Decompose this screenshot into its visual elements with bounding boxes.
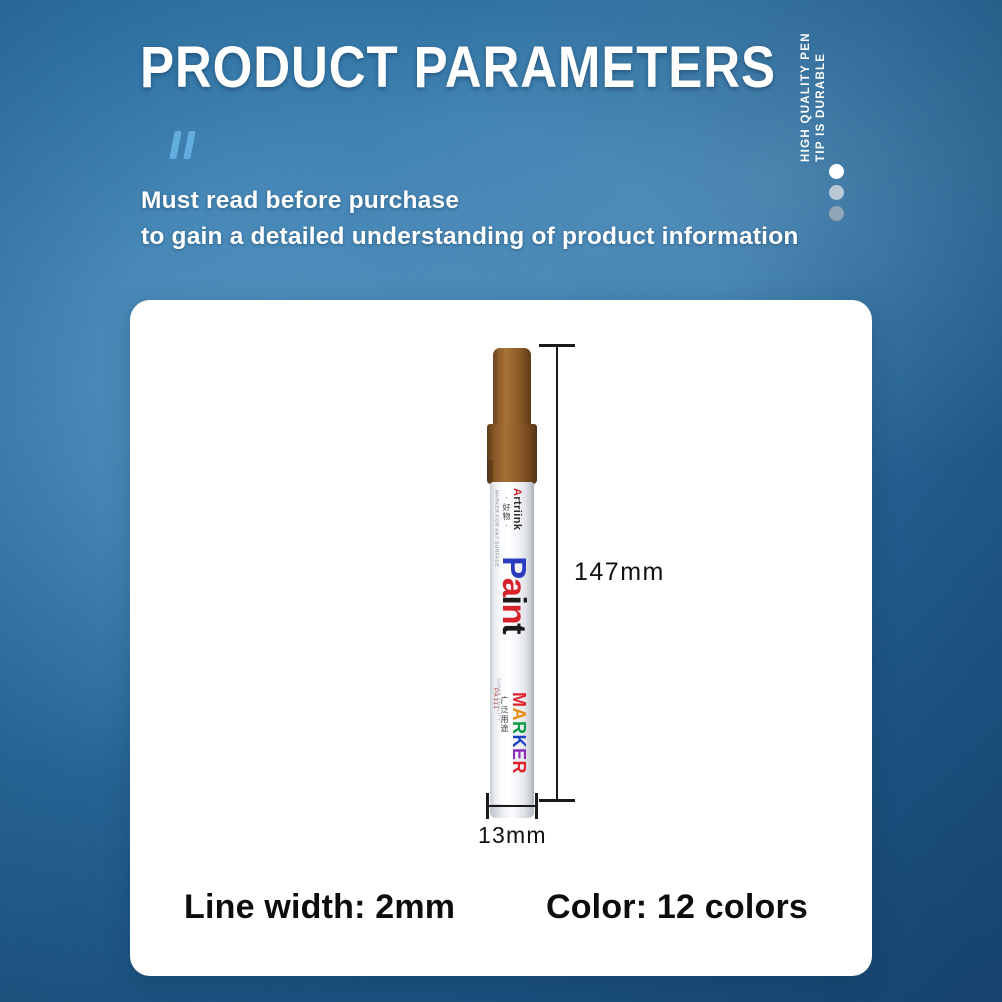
width-dimension-cap-right [535, 793, 538, 819]
height-dimension-label: 147mm [574, 558, 665, 587]
subtitle-line-1: Must read before purchase [141, 183, 799, 219]
width-dimension-label: 13mm [478, 822, 547, 849]
decorative-dots [829, 164, 844, 221]
product-parameters-infographic: PRODUCT PARAMETERS Must read before purc… [0, 0, 1002, 1002]
pen-brand-label: Artriink [511, 488, 522, 530]
side-tagline-line-2: TIP IS DURABLE [815, 22, 827, 162]
quote-mark-icon [170, 131, 202, 161]
pen-paint-logo: Paint [498, 556, 531, 633]
height-dimension-cap-top [539, 344, 575, 347]
spec-row: Line width: 2mm Color: 12 colors [130, 888, 872, 927]
height-dimension-line [556, 344, 558, 802]
product-spec-card: MARKER FOR ANY SURFACE Artriink · 好物 · P… [130, 300, 872, 976]
pen-marker-logo: MARKER [510, 692, 528, 774]
spec-line-width: Line width: 2mm [184, 888, 455, 927]
pen-barrel: MARKER FOR ANY SURFACE Artriink · 好物 · P… [490, 482, 534, 818]
subtitle-line-2: to gain a detailed understanding of prod… [141, 219, 799, 255]
height-dimension-cap-bottom [539, 799, 575, 802]
page-title: PRODUCT PARAMETERS [140, 34, 776, 101]
width-dimension-line [486, 805, 538, 807]
pen-brand-cn-label: · 好物 · [502, 496, 510, 528]
subtitle: Must read before purchase to gain a deta… [141, 183, 799, 255]
dot-1 [829, 164, 844, 179]
pen-fineprint-right: SUPER QUALITY [496, 678, 501, 721]
side-tagline: HIGH QUALITY PEN TIP IS DURABLE [800, 22, 827, 162]
quote-bar-left [169, 131, 181, 159]
spec-color: Color: 12 colors [546, 888, 808, 927]
side-tagline-line-1: HIGH QUALITY PEN [800, 22, 812, 162]
dot-2 [829, 185, 844, 200]
pen-cap-bottom [487, 424, 537, 484]
pen-cap-top [493, 348, 531, 426]
quote-bar-right [183, 131, 195, 159]
width-dimension-cap-left [486, 793, 489, 819]
dot-3 [829, 206, 844, 221]
paint-marker-pen-image: MARKER FOR ANY SURFACE Artriink · 好物 · P… [483, 348, 537, 818]
